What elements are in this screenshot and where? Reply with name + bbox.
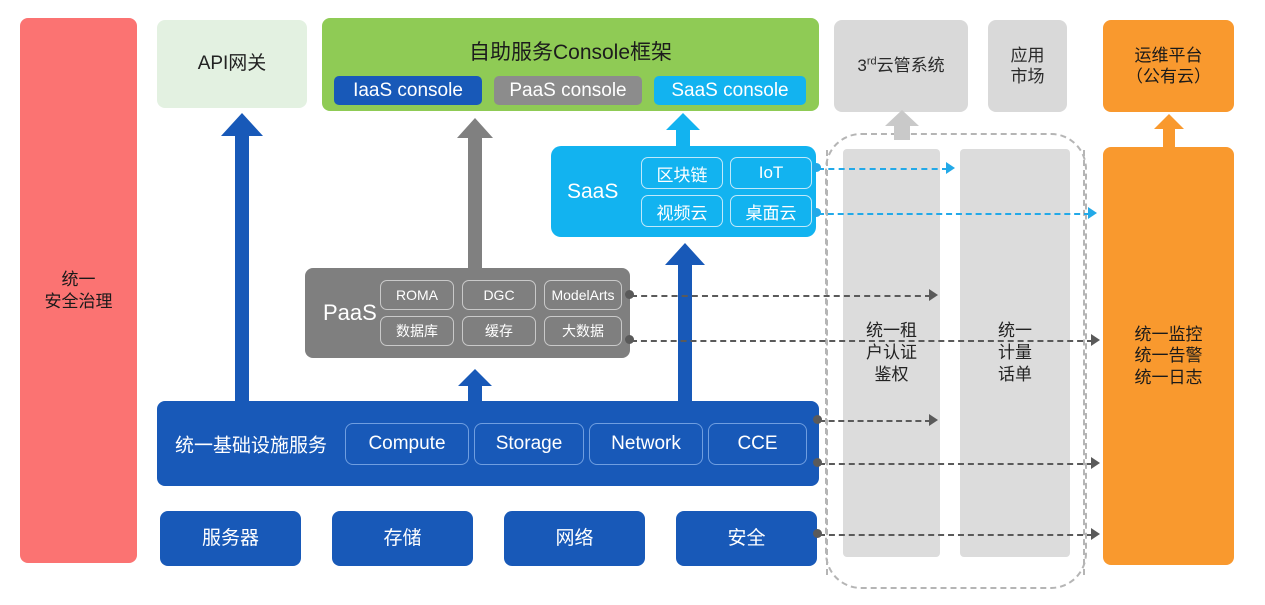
arrowhead-iaas-to-monitoring <box>1091 457 1100 469</box>
security-governance-column: 统一 安全治理 <box>20 18 137 563</box>
security-governance-label: 统一 安全治理 <box>45 269 113 312</box>
saas-layer-box: SaaS 区块链 IoT 视频云 桌面云 <box>551 146 816 237</box>
hardware-storage-box[interactable]: 存储 <box>332 511 473 566</box>
arrowhead-hardware-to-monitoring <box>1091 528 1100 540</box>
arrow-shared-to-third-cloud <box>884 110 920 140</box>
unified-infrastructure-bar: 统一基础设施服务 Compute Storage Network CCE <box>157 401 819 486</box>
saas-item-video-cloud-label: 视频云 <box>657 199 708 224</box>
shared-service-metering-billing[interactable]: 统一 计量 话单 <box>960 149 1070 557</box>
shared-service-metering-billing-label: 统一 计量 话单 <box>998 320 1032 386</box>
arrow-iaas-to-paas <box>456 369 494 405</box>
dashed-saas-to-monitoring <box>818 213 1090 215</box>
saas-item-iot[interactable]: IoT <box>730 157 812 189</box>
app-market-label: 应用 市场 <box>1011 45 1045 88</box>
hardware-server-box[interactable]: 服务器 <box>160 511 301 566</box>
dashed-iaas-to-monitoring <box>819 463 1093 465</box>
paas-layer-label: PaaS <box>323 300 377 326</box>
arrow-iaas-to-api-gateway <box>218 113 266 403</box>
arrow-paas-to-console <box>454 118 496 270</box>
chip-iaas-console-label: IaaS console <box>353 80 463 102</box>
arrowhead-paas-to-auth <box>929 289 938 301</box>
api-gateway-label: API网关 <box>198 52 267 76</box>
saas-item-iot-label: IoT <box>759 163 784 183</box>
api-gateway-box[interactable]: API网关 <box>157 20 307 108</box>
ops-platform-box[interactable]: 运维平台 （公有云） <box>1103 20 1234 112</box>
saas-item-blockchain[interactable]: 区块链 <box>641 157 723 189</box>
arrowhead-iaas-to-auth <box>929 414 938 426</box>
iaas-item-compute[interactable]: Compute <box>345 423 469 465</box>
console-framework-title: 自助服务Console框架 <box>322 36 819 66</box>
diagram-canvas: 统一 安全治理 API网关 自助服务Console框架 IaaS console… <box>0 0 1265 605</box>
monitoring-column: 统一监控 统一告警 统一日志 <box>1103 147 1234 565</box>
third-party-cloud-management-box[interactable]: 3rd云管系统 <box>834 20 968 112</box>
saas-item-desktop-cloud-label: 桌面云 <box>746 199 797 224</box>
chip-paas-console-label: PaaS console <box>509 80 626 102</box>
monitoring-column-label: 统一监控 统一告警 统一日志 <box>1135 324 1203 388</box>
third-party-cloud-management-label: 3rd云管系统 <box>857 55 944 76</box>
iaas-item-cce[interactable]: CCE <box>708 423 807 465</box>
iaas-item-network-label: Network <box>611 433 681 455</box>
chip-saas-console-label: SaaS console <box>671 80 788 102</box>
dashed-paas-to-auth <box>631 295 931 297</box>
iaas-item-cce-label: CCE <box>737 433 777 455</box>
arrow-monitoring-to-ops <box>1152 114 1186 148</box>
iaas-item-network[interactable]: Network <box>589 423 703 465</box>
dashed-iaas-to-auth <box>819 420 931 422</box>
iaas-item-compute-label: Compute <box>368 433 445 455</box>
paas-item-database[interactable]: 数据库 <box>380 316 454 346</box>
paas-item-modelarts-label: ModelArts <box>551 287 614 303</box>
paas-item-bigdata[interactable]: 大数据 <box>544 316 622 346</box>
saas-item-video-cloud[interactable]: 视频云 <box>641 195 723 227</box>
app-market-box[interactable]: 应用 市场 <box>988 20 1067 112</box>
paas-item-cache-label: 缓存 <box>485 321 513 341</box>
ops-platform-label: 运维平台 （公有云） <box>1126 45 1211 88</box>
hardware-security-label: 安全 <box>727 527 765 551</box>
saas-item-blockchain-label: 区块链 <box>657 161 708 186</box>
paas-item-bigdata-label: 大数据 <box>562 321 604 341</box>
arrow-saas-to-saas-console <box>664 113 702 151</box>
paas-item-roma[interactable]: ROMA <box>380 280 454 310</box>
third-cloud-superscript: rd <box>867 56 877 68</box>
paas-item-database-label: 数据库 <box>396 321 438 341</box>
hardware-network-label: 网络 <box>555 527 593 551</box>
console-framework-box: 自助服务Console框架 IaaS console PaaS console … <box>322 18 819 111</box>
arrow-iaas-to-saas <box>662 243 708 405</box>
hardware-storage-label: 存储 <box>383 527 421 551</box>
paas-item-roma-label: ROMA <box>396 287 438 303</box>
iaas-item-storage[interactable]: Storage <box>474 423 584 465</box>
arrowhead-saas-to-auth <box>946 162 955 174</box>
paas-item-dgc-label: DGC <box>483 287 514 303</box>
unified-infrastructure-label: 统一基础设施服务 <box>175 430 327 457</box>
paas-item-modelarts[interactable]: ModelArts <box>544 280 622 310</box>
chip-paas-console[interactable]: PaaS console <box>494 76 642 105</box>
shared-service-tenant-auth-label: 统一租 户认证 鉴权 <box>866 320 917 386</box>
paas-item-cache[interactable]: 缓存 <box>462 316 536 346</box>
paas-item-dgc[interactable]: DGC <box>462 280 536 310</box>
dashed-saas-to-auth <box>818 168 948 170</box>
iaas-item-storage-label: Storage <box>496 433 563 455</box>
hardware-security-box[interactable]: 安全 <box>676 511 817 566</box>
saas-item-desktop-cloud[interactable]: 桌面云 <box>730 195 812 227</box>
paas-layer-box: PaaS ROMA DGC ModelArts 数据库 缓存 大数据 <box>305 268 630 358</box>
saas-layer-label: SaaS <box>567 180 618 204</box>
arrowhead-saas-to-monitoring <box>1088 207 1097 219</box>
chip-iaas-console[interactable]: IaaS console <box>334 76 482 105</box>
dashed-hardware-to-monitoring <box>819 534 1093 536</box>
hardware-network-box[interactable]: 网络 <box>504 511 645 566</box>
chip-saas-console[interactable]: SaaS console <box>654 76 806 105</box>
hardware-server-label: 服务器 <box>202 527 259 551</box>
dashed-paas-to-monitoring <box>631 340 1093 342</box>
arrowhead-paas-to-monitoring <box>1091 334 1100 346</box>
shared-service-tenant-auth[interactable]: 统一租 户认证 鉴权 <box>843 149 940 557</box>
